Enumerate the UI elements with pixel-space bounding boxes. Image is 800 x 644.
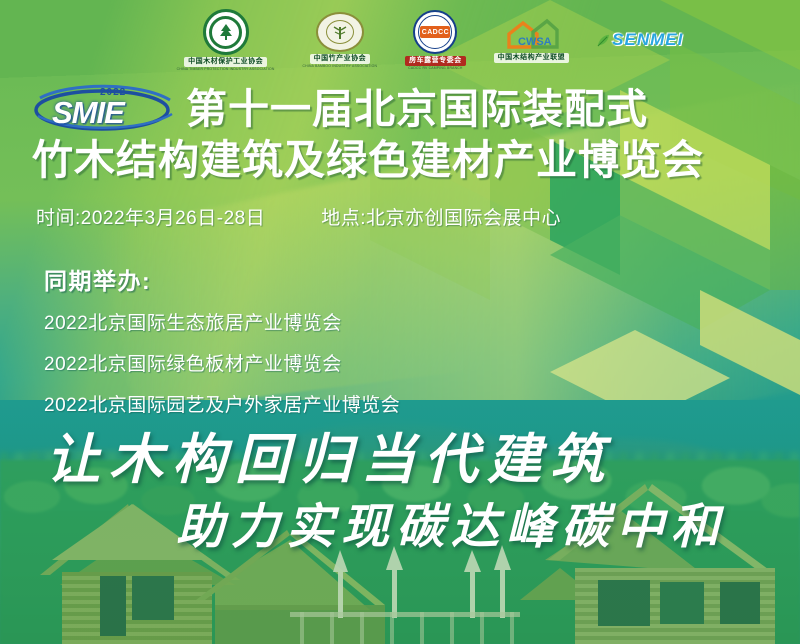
exhibition-poster: 中国木材保护工业协会 CHINA TIMBER PROTECTION INDUS… bbox=[0, 0, 800, 644]
logo-china-timber-protection-industry-association[interactable]: 中国木材保护工业协会 CHINA TIMBER PROTECTION INDUS… bbox=[177, 9, 275, 71]
tree-roundel-icon bbox=[203, 9, 249, 55]
slogan-line-2: 助力实现碳达峰碳中和 bbox=[176, 487, 726, 557]
logo-cwsa-china-wood-structure-industry-alliance[interactable]: CWSA 中国木结构产业联盟 bbox=[494, 17, 570, 63]
title-block: 2022 SMIE 第十一届北京国际装配式 竹木结构建筑及绿色建材产业博览会 bbox=[0, 84, 800, 181]
logo-label-cn: 房车露营专委会 bbox=[405, 56, 466, 66]
title-row-1: 2022 SMIE 第十一届北京国际装配式 bbox=[0, 84, 800, 134]
poster-title-line-1: 第十一届北京国际装配式 bbox=[186, 89, 648, 130]
event-datetime: 时间:2022年3月26日-28日 bbox=[36, 203, 265, 230]
logo-senmei[interactable]: SENMEI bbox=[597, 30, 683, 50]
event-meta-row: 时间:2022年3月26日-28日 地点:北京亦创国际会展中心 bbox=[36, 203, 561, 230]
poster-title-line-2: 竹木结构建筑及绿色建材产业博览会 bbox=[0, 140, 800, 181]
logo-label-en: CHINA TIMBER PROTECTION INDUSTRY ASSOCIA… bbox=[177, 67, 275, 71]
leaf-icon bbox=[597, 34, 610, 47]
concurrent-events-list: 2022北京国际生态旅居产业博览会 2022北京国际绿色板材产业博览会 2022… bbox=[44, 308, 400, 417]
logo-label-en: CHINA BAMBOO INDUSTRY ASSOCIATION bbox=[303, 64, 378, 68]
cwsa-house-icon: CWSA bbox=[503, 17, 559, 51]
logo-label-cn: 中国木结构产业联盟 bbox=[494, 53, 570, 63]
cadcc-roundel-icon: CADCC bbox=[413, 10, 457, 54]
senmei-wordmark: SENMEI bbox=[612, 30, 683, 50]
svg-text:CWSA: CWSA bbox=[518, 36, 552, 48]
event-venue: 地点:北京亦创国际会展中心 bbox=[321, 203, 561, 230]
logo-china-bamboo-industry-association[interactable]: 中国竹产业协会 CHINA BAMBOO INDUSTRY ASSOCIATIO… bbox=[303, 12, 378, 68]
logo-label-cn: 中国木材保护工业协会 bbox=[184, 57, 267, 67]
senmei-leaf-icon: SENMEI bbox=[597, 30, 683, 50]
concurrent-event-item: 2022北京国际园艺及户外家居产业博览会 bbox=[44, 390, 400, 417]
logo-label-cn: 中国竹产业协会 bbox=[310, 54, 371, 64]
smie-logo: 2022 SMIE bbox=[30, 84, 180, 134]
bamboo-oval-icon bbox=[316, 12, 364, 52]
concurrent-events-block: 同期举办: 2022北京国际生态旅居产业博览会 2022北京国际绿色板材产业博览… bbox=[44, 262, 400, 431]
smie-acronym: SMIE bbox=[52, 95, 124, 131]
association-logo-strip: 中国木材保护工业协会 CHINA TIMBER PROTECTION INDUS… bbox=[0, 0, 800, 80]
concurrent-event-item: 2022北京国际生态旅居产业博览会 bbox=[44, 308, 400, 335]
concurrent-event-item: 2022北京国际绿色板材产业博览会 bbox=[44, 349, 400, 376]
concurrent-events-heading: 同期举办: bbox=[44, 262, 400, 296]
logo-cadcc-rv-camping-committee[interactable]: CADCC 房车露营专委会 CADCC RV CAMPING BRANCH bbox=[405, 10, 466, 70]
logo-label-en: CADCC RV CAMPING BRANCH bbox=[408, 66, 462, 70]
slogan-line-1: 让木构回归当代建筑 bbox=[46, 415, 613, 494]
